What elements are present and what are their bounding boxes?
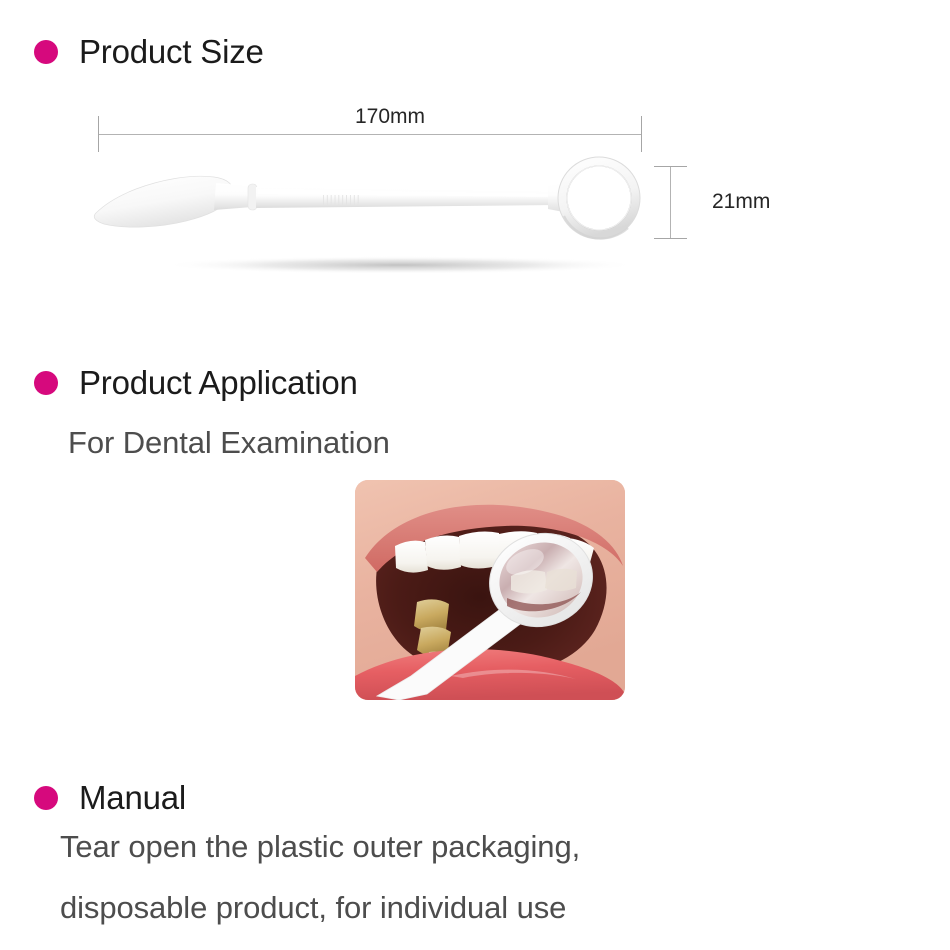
dental-mirror-product-image: |||||||||| [0,0,950,330]
product-infographic-page: Product Size 170mm 21mm [0,0,950,950]
bullet-dot-icon [34,786,58,810]
product-shadow [162,256,638,274]
product-application-subtitle: For Dental Examination [68,427,390,458]
bullet-dot-icon [34,371,58,395]
manual-line-2: disposable product, for individual use [60,892,566,923]
section-heading-product-application: Product Application [34,366,358,399]
spatula-blade [94,176,232,227]
dental-examination-photo [355,480,625,700]
section-heading-manual: Manual [34,781,186,814]
manual-title: Manual [79,781,186,814]
product-application-title: Product Application [79,366,358,399]
blade-neck [214,183,252,210]
handle-collar [248,184,257,210]
product-size-diagram: 170mm 21mm [0,0,950,330]
manual-line-1: Tear open the plastic outer packaging, [60,831,580,862]
handle-embossed-text: |||||||||| [322,194,361,206]
